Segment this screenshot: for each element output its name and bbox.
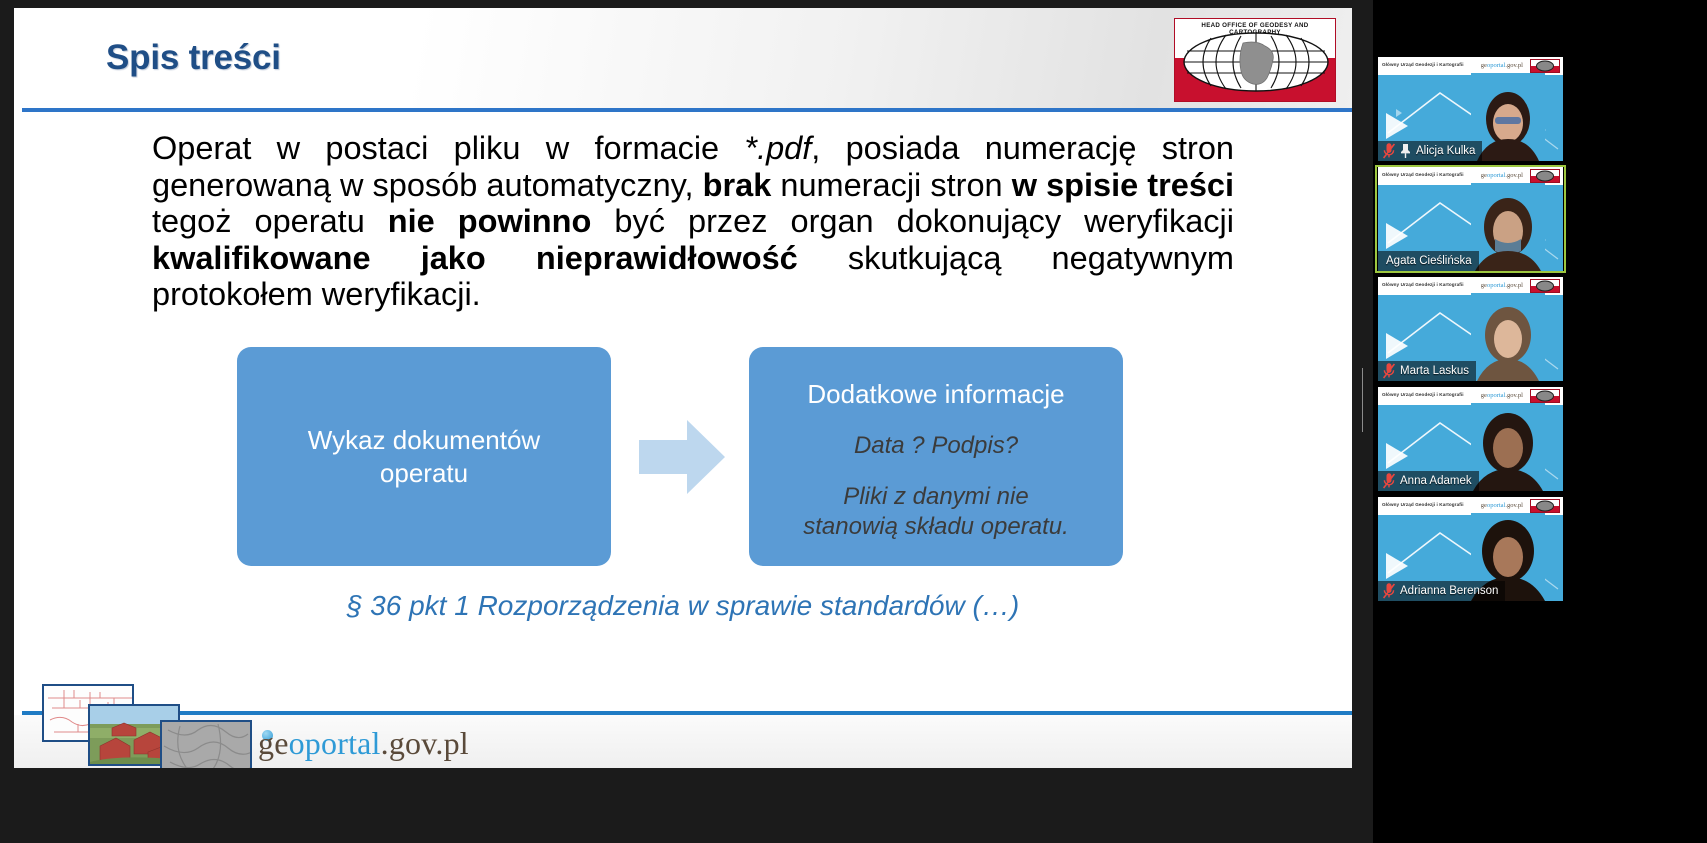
participant-video (1471, 183, 1545, 271)
para-part-3: numeracji stron (771, 167, 1011, 203)
participant-video (1471, 293, 1545, 381)
box-left-line-1: Wykaz dokumentów (308, 424, 540, 457)
para-bold-w-spisie-tresci: w spisie treści (1012, 167, 1234, 203)
thumbnail-terrain-model (160, 720, 252, 768)
tile-gugik-logo (1530, 389, 1560, 403)
tile-org-label: Główny Urząd Geodezji i Kartografii (1382, 62, 1464, 67)
participant-name: Alicja Kulka (1416, 145, 1475, 157)
play-icon (1386, 223, 1408, 249)
brand-part-c: .gov.pl (381, 725, 469, 761)
participant-video (1471, 403, 1545, 491)
box-right-sub-1: Data ? Podpis? (854, 431, 1018, 461)
para-italic-pdf: *.pdf (744, 130, 811, 166)
participant-name: Adrianna Berenson (1400, 585, 1498, 597)
participant-tile[interactable]: Główny Urząd Geodezji i Kartografii geop… (1375, 55, 1566, 163)
para-part-4: tegoż operatu (152, 203, 388, 239)
tile-name-bar: Anna Adamek (1378, 471, 1479, 491)
para-bold-kwalifikowane: kwalifikowane jako nieprawidłowość (152, 240, 798, 276)
box-right-sub-2-line-1: Pliki z danymi nie (803, 482, 1069, 512)
play-icon (1386, 333, 1408, 359)
legal-citation: § 36 pkt 1 Rozporządzenia w sprawie stan… (14, 590, 1352, 622)
box-left-line-2: operatu (380, 457, 468, 490)
tile-name-bar: Alicja Kulka (1378, 141, 1482, 161)
play-icon (1386, 553, 1408, 579)
mic-muted-icon (1382, 363, 1396, 379)
tile-org-label: Główny Urząd Geodezji i Kartografii (1382, 392, 1464, 397)
para-bold-brak: brak (703, 167, 772, 203)
box-right-title: Dodatkowe informacje (807, 379, 1064, 410)
brand-part-a: ge (258, 725, 289, 761)
para-bold-nie-powinno: nie powinno (388, 203, 592, 239)
play-icon (1386, 113, 1408, 139)
para-part-5: być przez organ dokonujący weryfikacji (591, 203, 1234, 239)
arrow-right-icon (639, 420, 725, 494)
participant-name: Marta Laskus (1400, 365, 1469, 377)
mic-muted-icon (1382, 473, 1396, 489)
tile-gugik-logo (1530, 169, 1560, 183)
screen-share-window: Spis treści HEAD OFFICE OF GEODESY AND C… (0, 0, 1707, 843)
mic-muted-icon (1382, 583, 1396, 599)
footer-thumbnails (38, 668, 288, 768)
presentation-slide: Spis treści HEAD OFFICE OF GEODESY AND C… (14, 8, 1352, 768)
tile-name-bar: Marta Laskus (1378, 361, 1476, 381)
tile-org-label: Główny Urząd Geodezji i Kartografii (1382, 282, 1464, 287)
tile-org-label: Główny Urząd Geodezji i Kartografii (1382, 172, 1464, 177)
tile-brand-label: geoportal.gov.pl (1481, 392, 1523, 399)
shared-content-stage: Spis treści HEAD OFFICE OF GEODESY AND C… (0, 0, 1353, 843)
participant-name: Anna Adamek (1400, 475, 1472, 487)
tile-gugik-logo (1530, 279, 1560, 293)
tile-gugik-logo (1530, 59, 1560, 73)
participant-tile[interactable]: Główny Urząd Geodezji i Kartografii geop… (1375, 165, 1566, 273)
pin-icon (1399, 143, 1412, 159)
mic-muted-icon (1382, 143, 1396, 159)
geoportal-wordmark: geoportal.gov.pl (258, 725, 469, 762)
para-part-1: Operat w postaci pliku w formacie (152, 130, 744, 166)
tile-gugik-logo (1530, 499, 1560, 513)
tile-brand-label: geoportal.gov.pl (1481, 502, 1523, 509)
tile-brand-label: geoportal.gov.pl (1481, 282, 1523, 289)
diagram-box-right: Dodatkowe informacje Data ? Podpis? Plik… (749, 347, 1123, 566)
play-icon (1386, 443, 1408, 469)
box-right-sub-2: Pliki z danymi nie stanowią składu opera… (803, 482, 1069, 542)
participant-tile[interactable]: Główny Urząd Geodezji i Kartografii geop… (1375, 385, 1566, 493)
tile-name-bar: Adrianna Berenson (1378, 581, 1505, 601)
participant-filmstrip: Główny Urząd Geodezji i Kartografii geop… (1373, 0, 1707, 843)
globe-icon (1181, 31, 1331, 93)
diagram-box-left: Wykaz dokumentów operatu (237, 347, 611, 566)
drag-handle-icon[interactable] (1362, 368, 1368, 400)
header-divider (22, 108, 1352, 112)
tile-org-label: Główny Urząd Geodezji i Kartografii (1382, 502, 1464, 507)
panel-resize-divider[interactable] (1357, 0, 1373, 843)
tile-brand-label: geoportal.gov.pl (1481, 62, 1523, 69)
tile-name-bar: Agata Cieślińska (1378, 251, 1479, 271)
box-right-sub-2-line-2: stanowią składu operatu. (803, 512, 1069, 542)
page-title: Spis treści (106, 38, 281, 78)
gugik-logo: HEAD OFFICE OF GEODESY AND CARTOGRAPHY (1174, 18, 1336, 102)
tile-brand-label: geoportal.gov.pl (1481, 172, 1523, 179)
slide-paragraph: Operat w postaci pliku w formacie *.pdf,… (152, 130, 1234, 313)
participant-name: Agata Cieślińska (1386, 255, 1472, 267)
brand-part-b: oportal (289, 725, 381, 761)
participant-tile[interactable]: Główny Urząd Geodezji i Kartografii geop… (1375, 495, 1566, 603)
participant-tile[interactable]: Główny Urząd Geodezji i Kartografii geop… (1375, 275, 1566, 383)
